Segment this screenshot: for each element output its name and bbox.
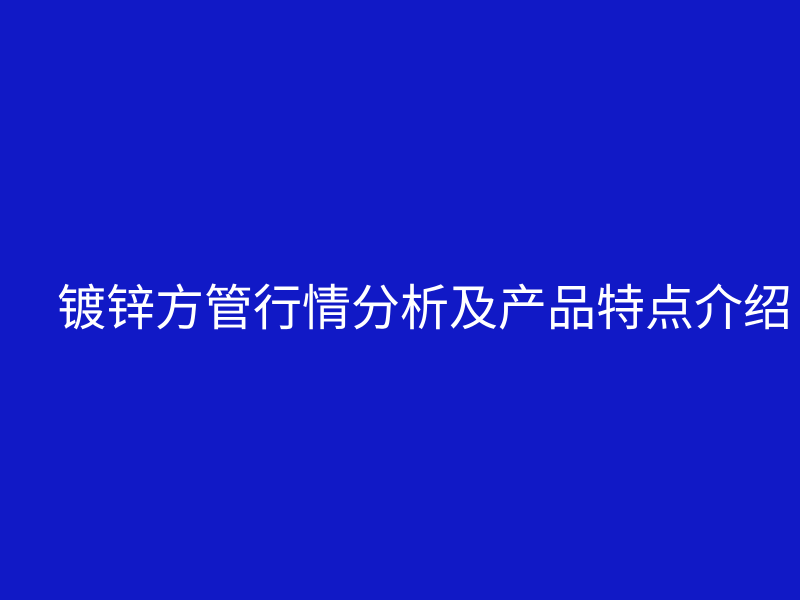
headline-container: 镀锌方管行情分析及产品特点介绍 [0,0,800,600]
title-banner: 镀锌方管行情分析及产品特点介绍 [0,0,800,600]
page-title: 镀锌方管行情分析及产品特点介绍 [0,284,792,333]
